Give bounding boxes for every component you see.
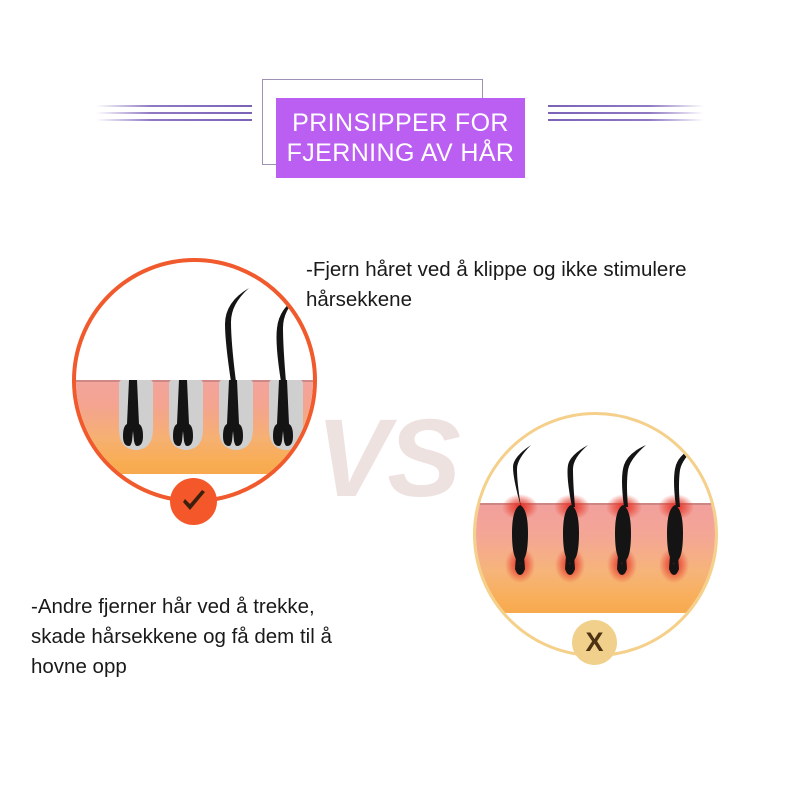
check-icon xyxy=(180,488,208,516)
bad-method-caption-line-2: skade hårsekkene og få dem til å xyxy=(31,622,431,652)
rule-line xyxy=(548,112,704,114)
title-banner: PRINSIPPER FOR FJERNING AV HÅR xyxy=(276,98,525,178)
good-method-illustration xyxy=(72,258,317,503)
versus-label: VS xyxy=(316,404,459,514)
follicle-1 xyxy=(502,445,538,583)
follicles-good xyxy=(76,262,317,503)
follicle-1 xyxy=(119,380,153,450)
decorative-rules-right xyxy=(548,103,704,127)
follicle-4 xyxy=(269,296,303,450)
follicle-3 xyxy=(606,445,646,583)
page-title-line-2: FJERNING AV HÅR xyxy=(287,138,515,168)
rule-line xyxy=(96,112,252,114)
decorative-rules-left xyxy=(96,103,252,127)
poster-canvas: PRINSIPPER FOR FJERNING AV HÅR VS xyxy=(0,0,800,800)
follicle-2 xyxy=(169,380,203,450)
bad-method-caption-line-1: -Andre fjerner hår ved å trekke, xyxy=(31,592,431,622)
rule-line xyxy=(548,105,704,107)
follicle-2 xyxy=(554,445,590,583)
page-title-line-1: PRINSIPPER FOR xyxy=(292,108,509,138)
follicle-3 xyxy=(219,288,253,450)
bad-method-caption-line-3: hovne opp xyxy=(31,652,431,682)
rule-line xyxy=(96,119,252,121)
good-method-caption: -Fjern håret ved å klippe og ikke stimul… xyxy=(306,255,696,315)
rule-line xyxy=(96,105,252,107)
bad-method-caption: -Andre fjerner hår ved å trekke, skade h… xyxy=(31,592,431,682)
rule-line xyxy=(548,119,704,121)
follicle-4 xyxy=(658,445,698,583)
bad-method-x-badge: X xyxy=(572,620,617,665)
x-icon: X xyxy=(585,627,603,658)
good-method-check-badge xyxy=(170,478,217,525)
